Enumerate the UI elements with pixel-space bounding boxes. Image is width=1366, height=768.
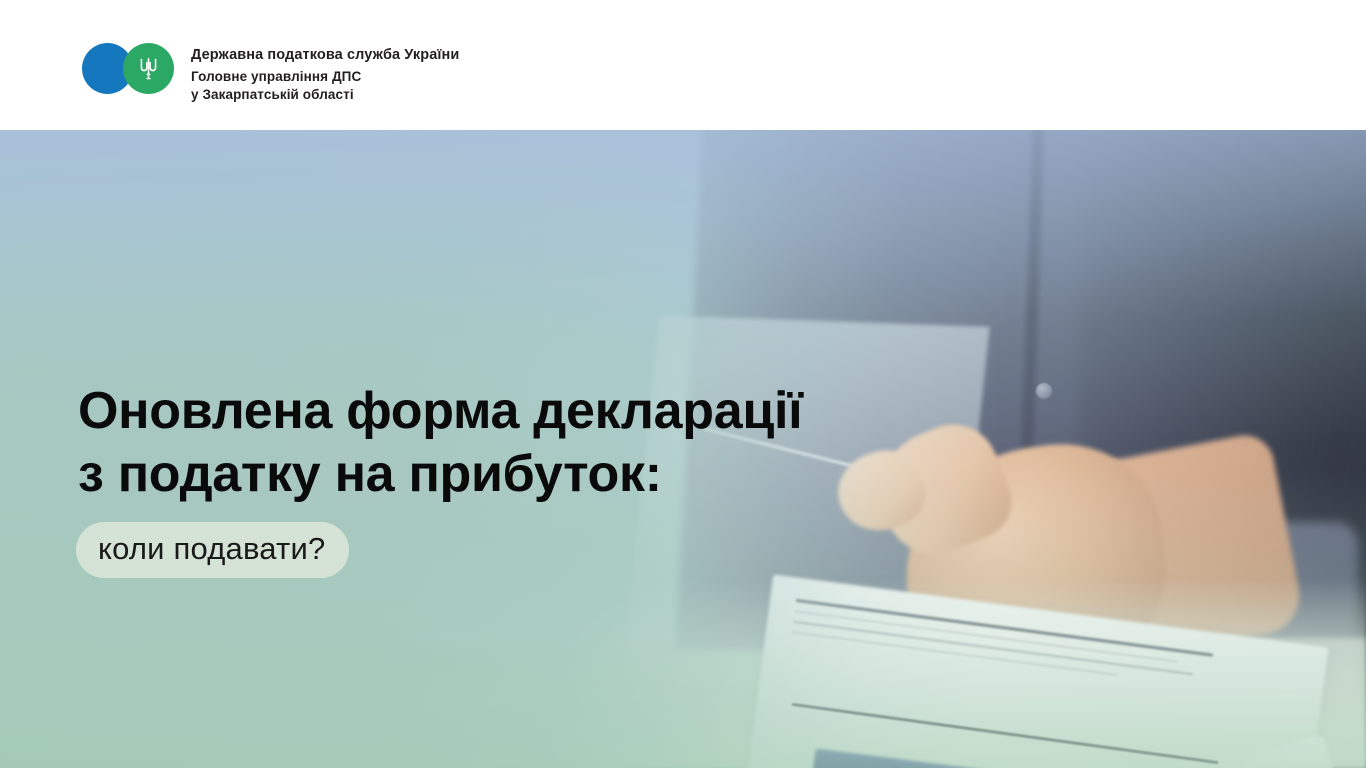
brand-text: Державна податкова служба України Головн… xyxy=(191,43,459,104)
brand-block[interactable]: Державна податкова служба України Головн… xyxy=(82,43,459,104)
hero-title-line-1: Оновлена форма декларації xyxy=(78,380,1078,443)
poster-page: Державна податкова служба України Головн… xyxy=(0,0,1366,768)
trident-icon xyxy=(138,56,159,81)
dps-logo[interactable] xyxy=(82,43,174,94)
hero-subtitle-pill: коли подавати? xyxy=(76,522,349,578)
office-line-2: у Закарпатській області xyxy=(191,86,459,104)
org-name: Державна податкова служба України xyxy=(191,46,459,64)
hero-banner: Оновлена форма декларації з податку на п… xyxy=(0,130,1366,768)
office-line-1: Головне управління ДПС xyxy=(191,68,459,86)
site-header: Державна податкова служба України Головн… xyxy=(0,0,1366,130)
hero-text-block: Оновлена форма декларації з податку на п… xyxy=(78,380,1078,578)
hero-title-line-2: з податку на прибуток: xyxy=(78,443,1078,506)
logo-green-circle-icon xyxy=(123,43,174,94)
